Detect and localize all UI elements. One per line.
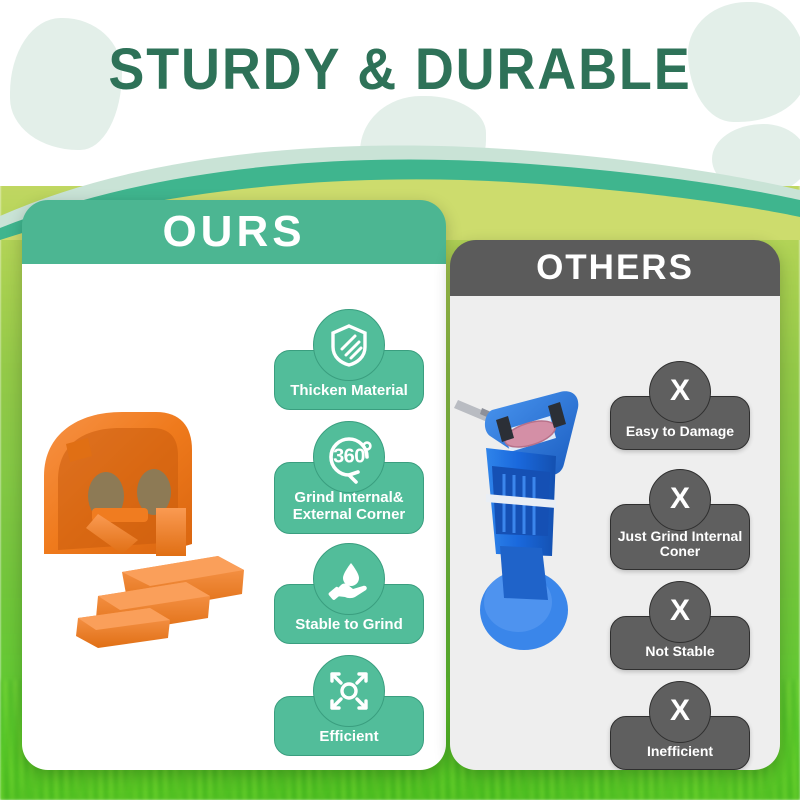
- others-feature-label: Easy to Damage: [620, 424, 740, 440]
- others-card-body: X Easy to Damage X Just Grind Internal C…: [450, 296, 780, 770]
- ours-feature-badge[interactable]: Efficient: [274, 696, 424, 756]
- x-mark-glyph: X: [670, 596, 690, 626]
- x-mark-icon: X: [649, 581, 711, 643]
- ours-feature-label: Grind Internal& External Corner: [275, 490, 423, 524]
- others-feature-badge[interactable]: X Easy to Damage: [610, 396, 750, 450]
- infographic-canvas: STURDY & DURABLE OURS: [0, 0, 800, 800]
- rotate-360-icon: 360: [313, 421, 385, 493]
- ours-feature-badge[interactable]: 360 Grind Internal& External Corner: [274, 462, 424, 534]
- ours-feature-label: Thicken Material: [284, 383, 414, 400]
- shield-icon: [313, 309, 385, 381]
- others-feature-badge[interactable]: X Inefficient: [610, 716, 750, 770]
- ours-feature-badge[interactable]: Thicken Material: [274, 350, 424, 410]
- others-card: OTHERS: [450, 240, 780, 770]
- x-mark-icon: X: [649, 681, 711, 743]
- others-feature-label: Inefficient: [641, 744, 719, 760]
- ours-feature-badge[interactable]: Stable to Grind: [274, 584, 424, 644]
- ours-feature-label: Stable to Grind: [289, 617, 409, 634]
- x-mark-glyph: X: [670, 376, 690, 406]
- others-feature-badge[interactable]: X Not Stable: [610, 616, 750, 670]
- others-feature-badge[interactable]: X Just Grind Internal Coner: [610, 504, 750, 570]
- rotate-360-icon-text: 360: [322, 446, 376, 469]
- ours-card: OURS: [22, 200, 446, 770]
- x-mark-icon: X: [649, 361, 711, 423]
- x-mark-glyph: X: [670, 696, 690, 726]
- others-card-title: OTHERS: [450, 240, 780, 296]
- others-product-image: [452, 386, 612, 676]
- x-mark-icon: X: [649, 469, 711, 531]
- others-feature-label: Not Stable: [639, 644, 720, 660]
- hand-droplet-icon: [313, 543, 385, 615]
- page-title: STURDY & DURABLE: [28, 36, 772, 103]
- ours-card-body: Thicken Material 360 Grind Internal& Ext…: [22, 264, 446, 770]
- x-mark-glyph: X: [670, 484, 690, 514]
- ours-card-title: OURS: [22, 200, 446, 264]
- four-arrows-icon: [313, 655, 385, 727]
- ours-feature-label: Efficient: [313, 729, 384, 746]
- ours-product-image: [30, 404, 270, 654]
- others-feature-label: Just Grind Internal Coner: [611, 529, 749, 560]
